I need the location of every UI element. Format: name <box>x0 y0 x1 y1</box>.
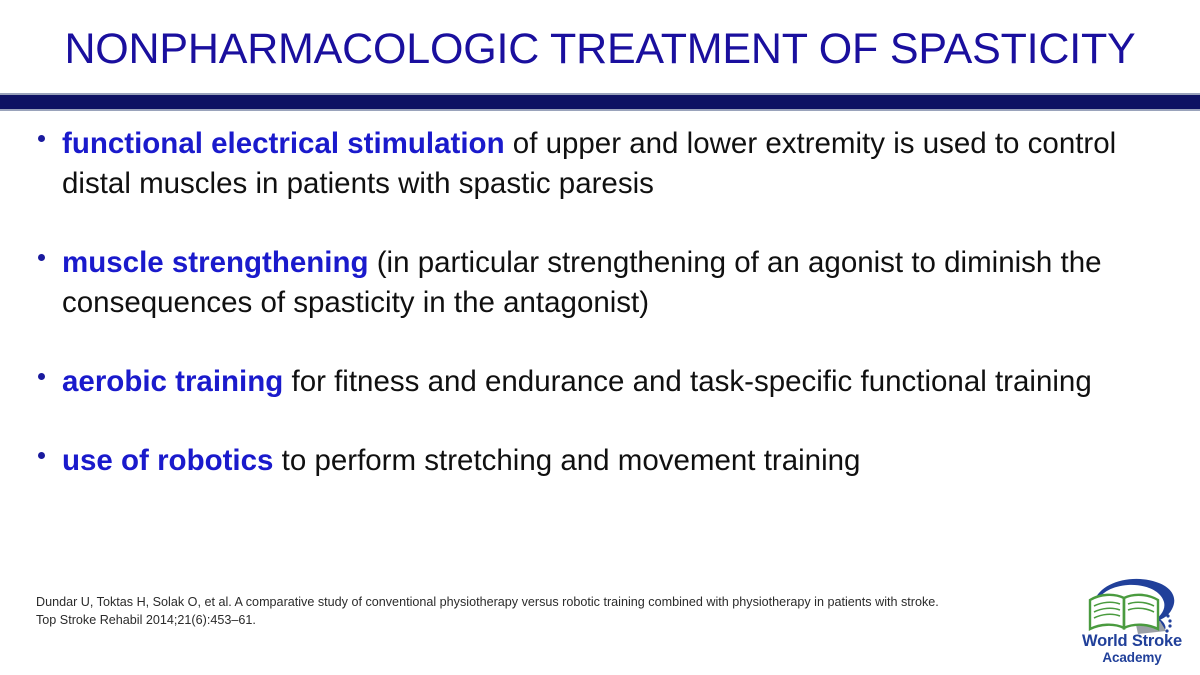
list-item: functional electrical stimulation of upp… <box>0 124 1200 204</box>
bullet-lead: functional electrical stimulation <box>62 127 505 160</box>
list-item: aerobic training for fitness and enduran… <box>0 362 1200 402</box>
logo-line-world-stroke: World Stroke <box>1068 632 1196 650</box>
citation: Dundar U, Toktas H, Solak O, et al. A co… <box>36 594 1046 629</box>
bullet-text: functional electrical stimulation of upp… <box>62 124 1138 204</box>
bullet-text: aerobic training for fitness and enduran… <box>62 362 1138 402</box>
bullet-dot-icon <box>38 373 45 380</box>
bullet-dot-icon <box>38 452 45 459</box>
bullet-lead: muscle strengthening <box>62 246 369 279</box>
divider-hairline-bottom <box>0 109 1200 111</box>
citation-line-2: Top Stroke Rehabil 2014;21(6):453–61. <box>36 612 1046 630</box>
slide: NONPHARMACOLOGIC TREATMENT OF SPASTICITY… <box>0 0 1200 675</box>
bullet-dot-icon <box>38 254 45 261</box>
bullet-dot-icon <box>38 135 45 142</box>
title-divider <box>0 93 1200 111</box>
divider-bar <box>0 95 1200 109</box>
bullet-lead: aerobic training <box>62 365 283 398</box>
list-item: use of robotics to perform stretching an… <box>0 441 1200 481</box>
bullet-text: use of robotics to perform stretching an… <box>62 441 1138 481</box>
title-area: NONPHARMACOLOGIC TREATMENT OF SPASTICITY <box>0 14 1200 84</box>
bullet-lead: use of robotics <box>62 444 273 477</box>
list-item: muscle strengthening (in particular stre… <box>0 243 1200 323</box>
page-title: NONPHARMACOLOGIC TREATMENT OF SPASTICITY <box>64 28 1135 71</box>
citation-line-1: Dundar U, Toktas H, Solak O, et al. A co… <box>36 594 1046 612</box>
bullet-body: to perform stretching and movement train… <box>273 444 860 477</box>
world-stroke-academy-logo: World Stroke Academy <box>1068 576 1196 672</box>
bullet-text: muscle strengthening (in particular stre… <box>62 243 1138 323</box>
logo-line-academy: Academy <box>1068 650 1196 665</box>
logo-text: World Stroke Academy <box>1068 632 1196 666</box>
bullet-list: functional electrical stimulation of upp… <box>0 124 1200 520</box>
bullet-body: for fitness and endurance and task-speci… <box>283 365 1091 398</box>
logo-mark-icon <box>1080 576 1184 638</box>
